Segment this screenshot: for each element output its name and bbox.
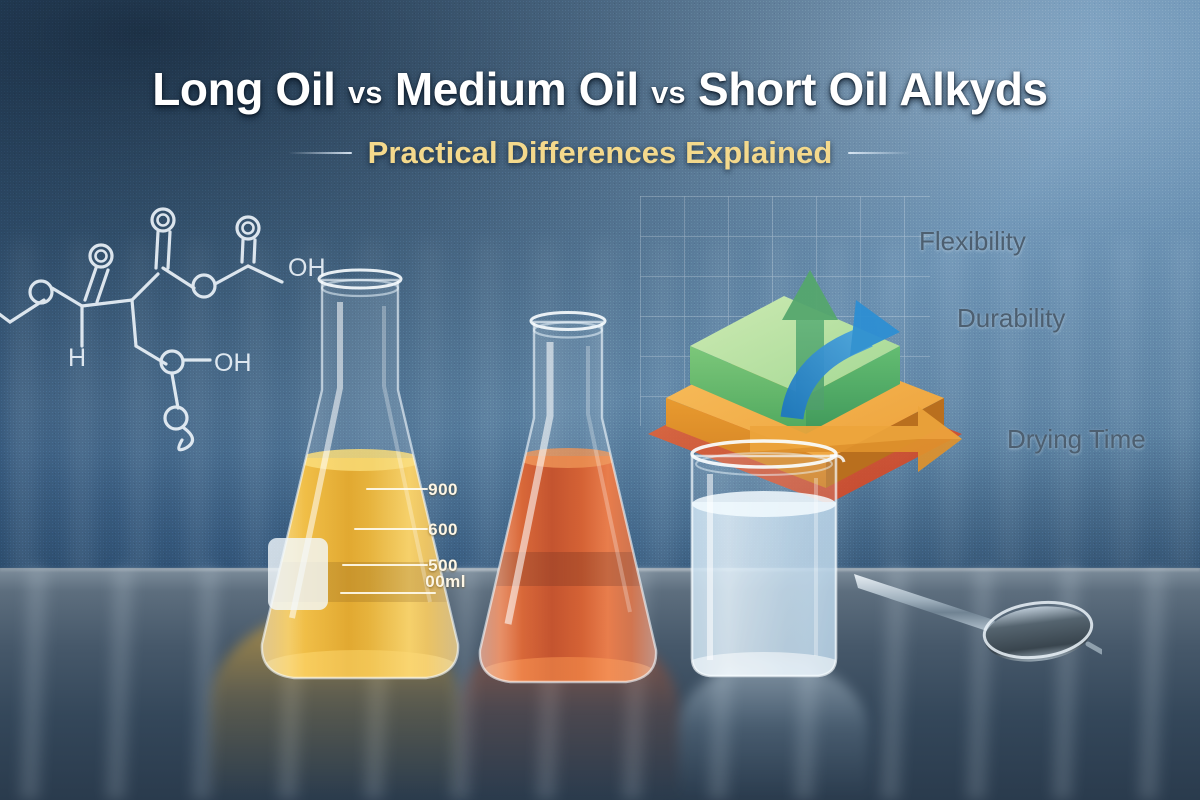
title-vs-2: vs	[651, 75, 685, 110]
erlenmeyer-flask-medium-oil	[468, 306, 668, 694]
page-title: Long Oil vs Medium Oil vs Short Oil Alky…	[0, 62, 1200, 116]
flask-glass	[262, 280, 458, 678]
grad-tick-500	[342, 564, 428, 566]
graduation-00ml: 00ml	[425, 572, 466, 592]
title-part-2: Medium Oil	[395, 63, 639, 115]
atom-oh-lower: OH	[214, 349, 252, 377]
grad-tick-900	[366, 488, 428, 490]
chart-label-durability: Durability	[957, 303, 1065, 334]
page-subtitle: Practical Differences Explained	[368, 135, 833, 171]
subtitle-rule-right	[848, 152, 912, 154]
erlenmeyer-flask-long-oil: 900 600 500 00ml	[248, 262, 472, 694]
title-part-1: Long Oil	[152, 63, 335, 115]
lab-spatula	[852, 558, 1102, 668]
subtitle-row: Practical Differences Explained	[0, 135, 1200, 171]
spatula-handle	[854, 574, 1002, 636]
chart-label-drying-time: Drying Time	[1007, 424, 1146, 455]
title-part-3: Short Oil Alkyds	[698, 63, 1048, 115]
grad-tick-00ml	[340, 592, 436, 594]
graduation-600: 600	[428, 520, 458, 540]
grad-tick-600	[354, 528, 428, 530]
chart-label-flexibility: Flexibility	[919, 226, 1026, 257]
atom-h: H	[68, 344, 86, 372]
graduation-900: 900	[428, 480, 458, 500]
hero-banner: H OH OH	[0, 0, 1200, 800]
flask-glass	[480, 322, 656, 682]
title-vs-1: vs	[348, 75, 382, 110]
beaker-short-oil	[676, 430, 852, 692]
flask-label-patch	[268, 538, 328, 610]
subtitle-rule-left	[288, 152, 352, 154]
